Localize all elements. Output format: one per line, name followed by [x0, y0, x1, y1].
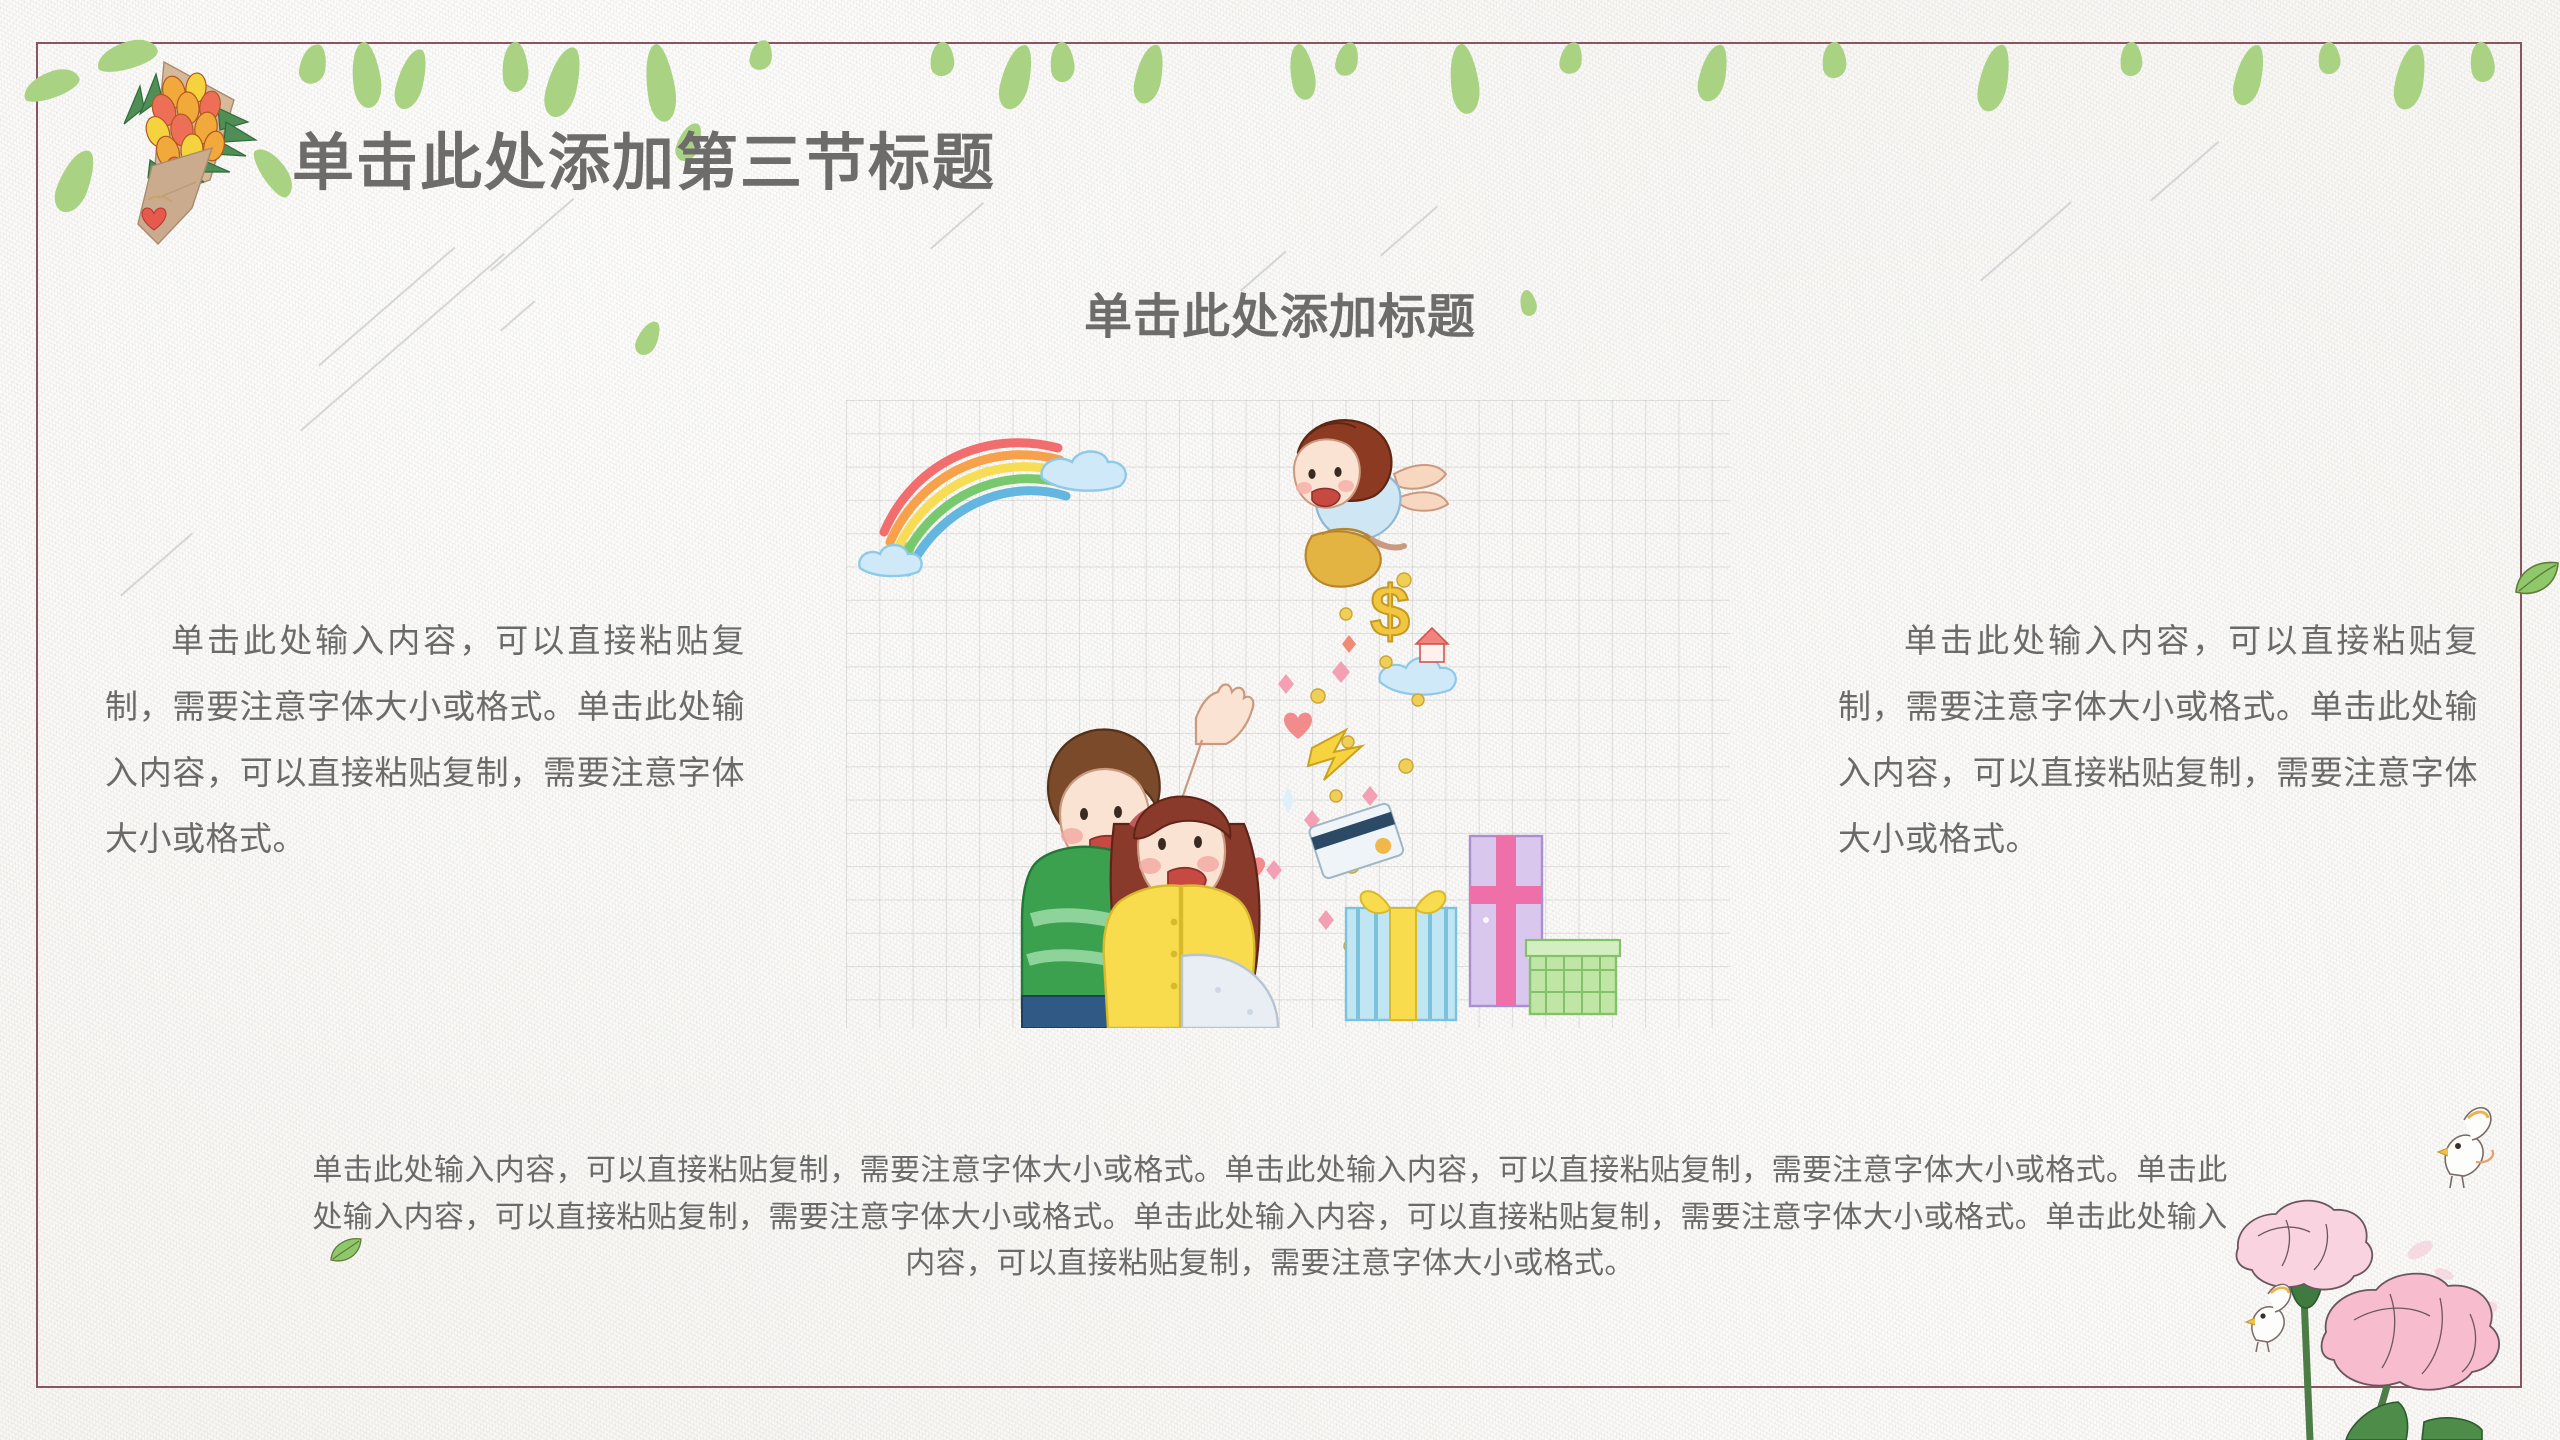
- bird-icon: [2420, 1100, 2500, 1195]
- house-icon: [1416, 628, 1448, 662]
- leaf-icon: [540, 44, 585, 121]
- sparkle-icon: [1266, 635, 1378, 930]
- bottom-body-text: 单击此处输入内容，可以直接粘贴复制，需要注意字体大小或格式。单击此处输入内容，可…: [300, 1148, 2240, 1288]
- family-expecting-baby-illustration: $: [846, 400, 1730, 1028]
- leaf-icon: [1974, 42, 2013, 114]
- pregnant-woman-icon: [1104, 796, 1278, 1028]
- leaf-icon: [1131, 42, 1167, 106]
- diagonal-stroke: [120, 533, 193, 597]
- right-body-text: 单击此处输入内容，可以直接粘贴复制，需要注意字体大小或格式。单击此处输入内容，可…: [1838, 608, 2478, 872]
- tulip-bouquet-icon: [100, 48, 280, 263]
- gift-box-icon: [1346, 836, 1620, 1020]
- leaf-icon: [1047, 41, 1076, 84]
- leaf-icon: [347, 40, 385, 110]
- diagonal-stroke: [1380, 206, 1438, 257]
- leaf-icon: [500, 41, 530, 93]
- leaf-icon: [297, 42, 328, 85]
- diagonal-stroke: [490, 198, 574, 272]
- leaf-icon: [2512, 558, 2560, 605]
- leaf-icon: [2316, 40, 2343, 75]
- slide-canvas: $: [0, 0, 2560, 1440]
- leaf-icon: [2466, 40, 2497, 84]
- leaf-icon: [748, 39, 773, 71]
- leaf-icon: [1820, 41, 1848, 80]
- diagonal-stroke: [2150, 141, 2219, 202]
- leaf-icon: [1695, 42, 1732, 104]
- diagonal-stroke: [930, 202, 984, 249]
- leaf-icon: [2230, 42, 2268, 108]
- flying-baby-icon: [1294, 420, 1448, 587]
- leaf-icon: [391, 46, 431, 112]
- left-body-text: 单击此处输入内容，可以直接粘贴复制，需要注意字体大小或格式。单击此处输入内容，可…: [105, 608, 745, 872]
- leaf-icon: [928, 41, 955, 77]
- section-subtitle: 单击此处添加标题: [0, 277, 2560, 347]
- leaf-icon: [2118, 41, 2143, 77]
- lightning-icon: [1308, 730, 1362, 780]
- leaf-icon: [1445, 42, 1484, 116]
- bird-icon: [2232, 1278, 2298, 1359]
- leaf-icon: [1558, 41, 1583, 75]
- diagonal-stroke: [1980, 201, 2072, 281]
- leaf-icon: [1334, 41, 1361, 78]
- page-title: 单击此处添加第三节标题: [292, 112, 996, 202]
- credit-card-icon: [1308, 802, 1405, 879]
- leaf-icon: [1284, 42, 1319, 102]
- leaf-icon: [995, 42, 1036, 112]
- leaf-icon: [50, 145, 101, 217]
- leaf-icon: [2391, 42, 2429, 112]
- sparkle-icon: [1282, 786, 1294, 814]
- leaf-icon: [19, 64, 82, 107]
